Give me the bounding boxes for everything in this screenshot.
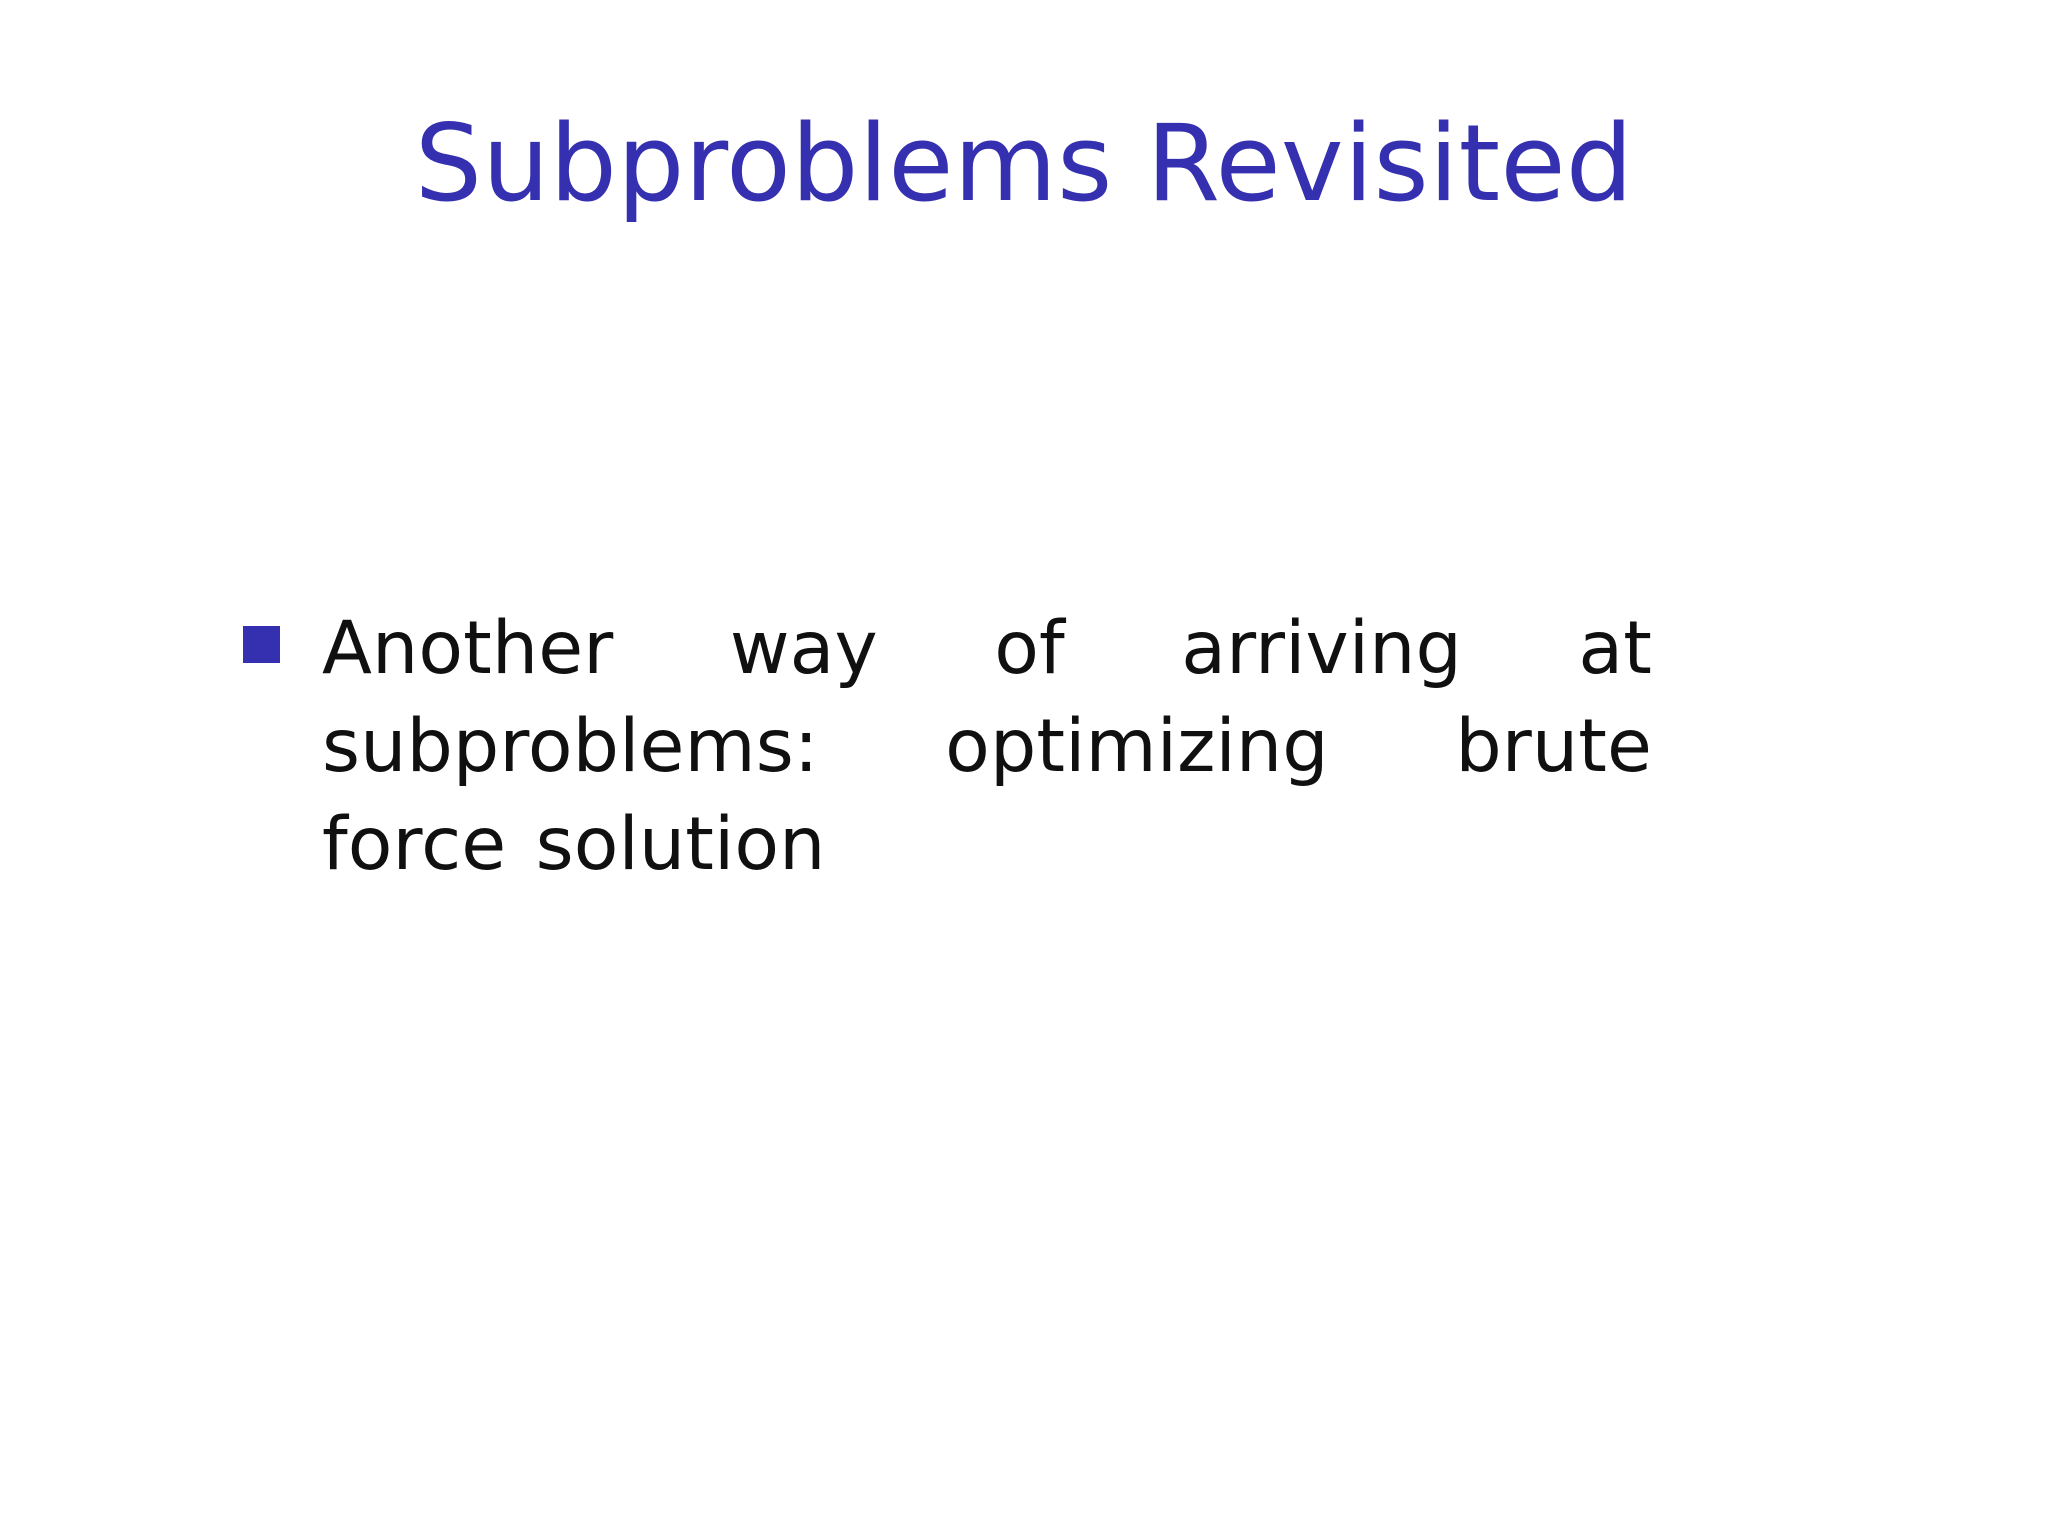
page-title: Subproblems Revisited — [415, 105, 1634, 224]
slide-title-area: Subproblems Revisited — [0, 34, 2048, 295]
presentation-slide: Subproblems Revisited Another way of arr… — [0, 0, 2048, 1536]
bullet-list: Another way of arriving at subproblems: … — [243, 600, 1803, 894]
slide-body: Another way of arriving at subproblems: … — [243, 600, 1803, 894]
square-bullet-icon — [243, 626, 280, 663]
list-item: Another way of arriving at subproblems: … — [243, 600, 1803, 894]
list-item-label: Another way of arriving at subproblems: … — [322, 600, 1652, 894]
